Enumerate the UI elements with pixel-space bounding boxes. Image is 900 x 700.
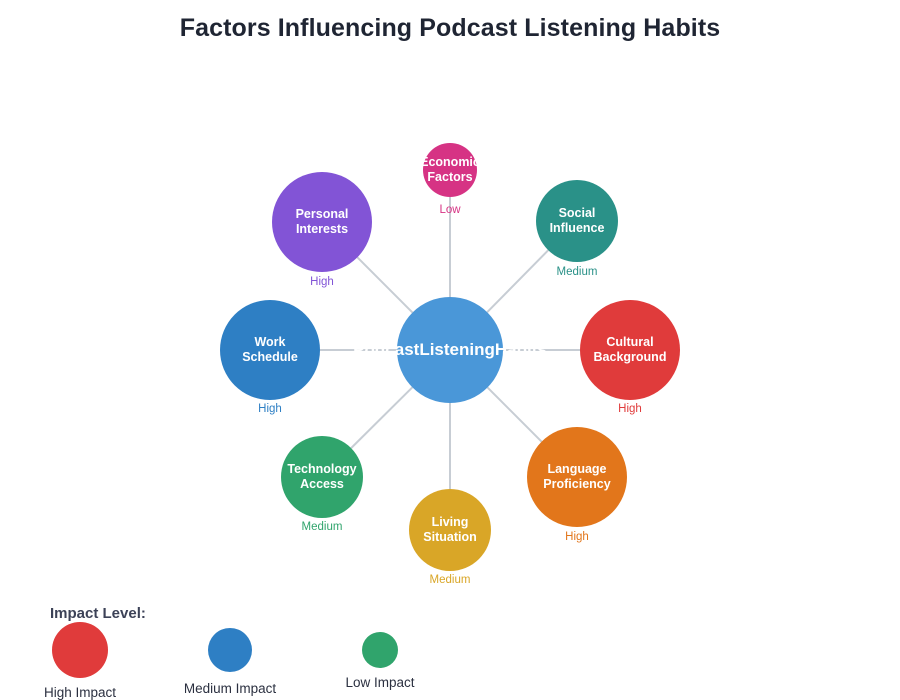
node-work-schedule[interactable]: WorkSchedule: [220, 300, 320, 400]
node-label-language-proficiency: LanguageProficiency: [543, 462, 610, 492]
legend-swatch-medium-impact: [208, 628, 252, 672]
impact-caption-work-schedule: High: [200, 403, 340, 415]
node-social-influence[interactable]: SocialInfluence: [536, 180, 618, 262]
node-label-social-influence: SocialInfluence: [550, 206, 605, 236]
legend-swatch-low-impact: [362, 632, 398, 668]
node-label-line-2: Factors: [420, 170, 480, 185]
center-node-podcast-listening-habits[interactable]: PodcastListeningHabits: [397, 297, 503, 403]
edge-technology-access: [351, 387, 412, 448]
center-node-label-line-1: Podcast: [353, 340, 419, 360]
node-label-line-2: Situation: [423, 530, 476, 545]
legend-label-medium-impact: Medium Impact: [150, 681, 310, 696]
impact-caption-social-influence: Medium: [507, 266, 647, 278]
node-label-line-2: Interests: [296, 222, 349, 237]
node-label-technology-access: TechnologyAccess: [287, 462, 356, 492]
node-living-situation[interactable]: LivingSituation: [409, 489, 491, 571]
legend-label-low-impact: Low Impact: [300, 675, 460, 690]
center-node-label-line-2: Listening: [419, 340, 495, 360]
node-label-line-1: Economic: [420, 155, 480, 170]
node-label-work-schedule: WorkSchedule: [242, 335, 298, 365]
node-label-cultural-background: CulturalBackground: [594, 335, 667, 365]
node-label-living-situation: LivingSituation: [423, 515, 476, 545]
node-language-proficiency[interactable]: LanguageProficiency: [527, 427, 627, 527]
node-cultural-background[interactable]: CulturalBackground: [580, 300, 680, 400]
node-label-line-1: Technology: [287, 462, 356, 477]
legend-label-high-impact: High Impact: [0, 685, 160, 700]
node-label-line-1: Social: [550, 206, 605, 221]
node-label-line-2: Proficiency: [543, 477, 610, 492]
node-label-line-2: Schedule: [242, 350, 298, 365]
node-label-line-1: Cultural: [594, 335, 667, 350]
edge-language-proficiency: [487, 387, 541, 441]
node-personal-interests[interactable]: PersonalInterests: [272, 172, 372, 272]
node-label-line-1: Living: [423, 515, 476, 530]
node-label-line-1: Work: [242, 335, 298, 350]
node-label-line-2: Influence: [550, 221, 605, 236]
edge-social-influence: [487, 250, 548, 312]
mind-map-diagram: PodcastListeningHabitsEconomicFactorsLow…: [0, 0, 900, 600]
legend-title: Impact Level:: [50, 605, 146, 622]
impact-caption-language-proficiency: High: [507, 531, 647, 543]
center-node-label-line-3: Habits: [495, 340, 547, 360]
node-label-line-2: Access: [287, 477, 356, 492]
legend: Impact Level: High ImpactMedium ImpactLo…: [0, 600, 900, 700]
impact-caption-personal-interests: High: [252, 276, 392, 288]
impact-caption-technology-access: Medium: [252, 521, 392, 533]
node-label-economic-factors: EconomicFactors: [420, 155, 480, 185]
node-label-personal-interests: PersonalInterests: [296, 207, 349, 237]
impact-caption-economic-factors: Low: [380, 204, 520, 216]
impact-caption-cultural-background: High: [560, 403, 700, 415]
impact-caption-living-situation: Medium: [380, 574, 520, 586]
node-label-line-1: Personal: [296, 207, 349, 222]
legend-swatch-high-impact: [52, 622, 108, 678]
node-technology-access[interactable]: TechnologyAccess: [281, 436, 363, 518]
node-label-line-2: Background: [594, 350, 667, 365]
node-economic-factors[interactable]: EconomicFactors: [423, 143, 477, 197]
node-label-line-1: Language: [543, 462, 610, 477]
